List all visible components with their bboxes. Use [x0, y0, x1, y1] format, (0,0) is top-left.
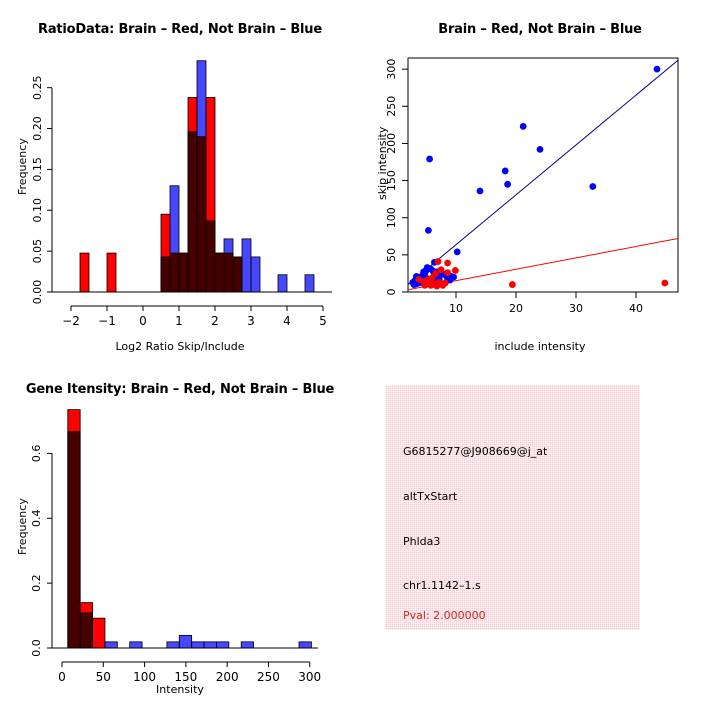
ratio-y-tick-label: 0.00: [31, 280, 44, 305]
gene-bar-notbrain: [105, 642, 117, 648]
scatter-point: [520, 123, 527, 130]
intensity-scatter-title: Brain – Red, Not Brain – Blue: [360, 22, 720, 37]
gene-x-tick-label: 50: [96, 670, 111, 684]
scatter-y-tick-label: 300: [385, 59, 398, 80]
scatter-point: [454, 248, 461, 255]
ratio-bar-notbrain: [224, 239, 233, 292]
gene-bar-notbrain: [216, 642, 228, 648]
scatter-point: [425, 227, 432, 234]
gene-bar-notbrain: [130, 642, 142, 648]
gene-bar-notbrain: [241, 642, 253, 648]
ratio-bar-notbrain: [179, 253, 188, 292]
gene-y-tick-label: 0.2: [30, 574, 43, 592]
scatter-point: [502, 168, 509, 175]
scatter-point: [444, 269, 451, 276]
gene-bar-notbrain: [299, 642, 311, 648]
pval-text: Pval: 2.000000: [403, 609, 486, 622]
ratio-bar-notbrain: [278, 275, 287, 292]
ratio-y-tick-label: 0.15: [31, 157, 44, 182]
gene-plot-group: 0.00.20.40.6050100150200250300: [30, 410, 321, 684]
gene-x-tick-label: 100: [133, 670, 156, 684]
gene-bar-notbrain: [204, 642, 216, 648]
ratio-histogram-panel: RatioData: Brain – Red, Not Brain – Blue…: [0, 0, 360, 360]
ratio-bar-brain: [80, 253, 89, 292]
scatter-point: [426, 156, 433, 163]
scatter-plot-frame: [408, 58, 678, 292]
scatter-point: [452, 267, 459, 274]
coordinate-text: chr1.1142–1.s: [403, 579, 481, 592]
gene-intensity-ylabel: Frequency: [16, 498, 29, 555]
ratio-x-tick-label: 1: [175, 314, 183, 328]
scatter-point: [409, 279, 416, 286]
intensity-scatter-xlabel: include intensity: [360, 340, 720, 353]
gene-bar-notbrain: [68, 432, 80, 648]
gene-x-tick-label: 0: [58, 670, 66, 684]
scatter-point: [435, 258, 442, 265]
gene-x-tick-label: 150: [174, 670, 197, 684]
ratio-bar-notbrain: [170, 186, 179, 292]
ratio-bar-notbrain: [188, 132, 197, 292]
ratio-histogram-xlabel: Log2 Ratio Skip/Include: [0, 340, 360, 353]
gene-intensity-title: Gene Itensity: Brain – Red, Not Brain – …: [0, 382, 360, 397]
event-type-text: altTxStart: [403, 490, 457, 503]
scatter-y-tick-label: 100: [385, 207, 398, 228]
scatter-point: [433, 283, 440, 290]
scatter-point: [421, 282, 428, 289]
scatter-y-tick-label: 50: [385, 248, 398, 262]
gene-symbol-text: Phlda3: [403, 535, 440, 548]
ratio-bar-notbrain: [161, 257, 170, 292]
scatter-point: [654, 66, 661, 73]
gene-y-tick-label: 0.0: [30, 639, 43, 657]
scatter-inner: [408, 60, 678, 290]
scatter-fit-line: [408, 60, 678, 284]
ratio-x-tick-label: 3: [247, 314, 255, 328]
scatter-plot-group: 05010015020025030010203040: [385, 58, 678, 315]
ratio-bar-brain: [107, 253, 116, 292]
scatter-x-tick-label: 30: [569, 302, 583, 315]
ratio-x-tick-label: 2: [211, 314, 219, 328]
ratio-y-tick-label: 0.05: [31, 239, 44, 264]
gene-intensity-panel: Gene Itensity: Brain – Red, Not Brain – …: [0, 360, 360, 720]
gene-x-tick-label: 300: [298, 670, 321, 684]
ratio-y-tick-label: 0.20: [31, 116, 44, 141]
scatter-point: [442, 280, 449, 287]
scatter-y-tick-label: 250: [385, 96, 398, 117]
gene-bar-brain: [93, 618, 105, 648]
ratio-bar-notbrain: [233, 257, 242, 292]
scatter-point: [477, 188, 484, 195]
scatter-point: [504, 181, 511, 188]
ratio-bar-notbrain: [197, 61, 206, 292]
scatter-point: [415, 276, 422, 283]
ratio-bar-notbrain: [206, 221, 215, 292]
ratio-bar-notbrain: [305, 275, 314, 292]
ratio-y-tick-label: 0.25: [31, 75, 44, 100]
ratio-bar-notbrain: [215, 253, 224, 292]
ratio-plot-group: 0.000.050.100.150.200.25−2−1012345: [31, 61, 332, 328]
ratio-x-tick-label: −2: [62, 314, 80, 328]
ratio-y-tick-label: 0.10: [31, 198, 44, 223]
scatter-point: [661, 280, 668, 287]
scatter-x-tick-label: 40: [629, 302, 643, 315]
scatter-point: [420, 269, 427, 276]
scatter-point: [537, 146, 544, 153]
gene-y-tick-label: 0.4: [30, 510, 43, 528]
ratio-x-tick-label: −1: [98, 314, 116, 328]
intensity-scatter-canvas: 05010015020025030010203040: [360, 0, 720, 360]
gene-bar-notbrain: [80, 613, 92, 648]
gene-y-tick-label: 0.6: [30, 445, 43, 463]
ratio-bar-notbrain: [242, 239, 251, 292]
gene-intensity-canvas: 0.00.20.40.6050100150200250300: [0, 360, 360, 720]
gene-x-tick-label: 250: [257, 670, 280, 684]
probe-info-panel: G6815277@J908669@j_at altTxStart Phlda3 …: [360, 360, 720, 720]
scatter-x-tick-label: 20: [509, 302, 523, 315]
ratio-histogram-ylabel: Frequency: [16, 138, 29, 195]
gene-bar-notbrain: [179, 635, 191, 648]
intensity-scatter-ylabel: skip intensity: [376, 127, 389, 200]
gene-x-tick-label: 200: [216, 670, 239, 684]
ratio-x-tick-label: 4: [283, 314, 291, 328]
ratio-bar-notbrain: [251, 257, 260, 292]
ratio-x-tick-label: 0: [139, 314, 147, 328]
ratio-histogram-title: RatioData: Brain – Red, Not Brain – Blue: [0, 22, 360, 37]
gene-intensity-xlabel: Intensity: [0, 683, 360, 696]
ratio-x-tick-label: 5: [319, 314, 327, 328]
scatter-y-tick-label: 0: [385, 289, 398, 296]
gene-bar-notbrain: [192, 642, 204, 648]
ratio-histogram-canvas: 0.000.050.100.150.200.25−2−1012345: [0, 0, 360, 360]
scatter-point: [509, 281, 516, 288]
scatter-point: [589, 183, 596, 190]
intensity-scatter-panel: Brain – Red, Not Brain – Blue include in…: [360, 0, 720, 360]
gene-bar-notbrain: [167, 642, 179, 648]
scatter-point: [444, 260, 451, 267]
scatter-x-tick-label: 10: [449, 302, 463, 315]
probe-info-box: G6815277@J908669@j_at altTxStart Phlda3 …: [385, 385, 640, 630]
probe-id-text: G6815277@J908669@j_at: [403, 445, 547, 458]
